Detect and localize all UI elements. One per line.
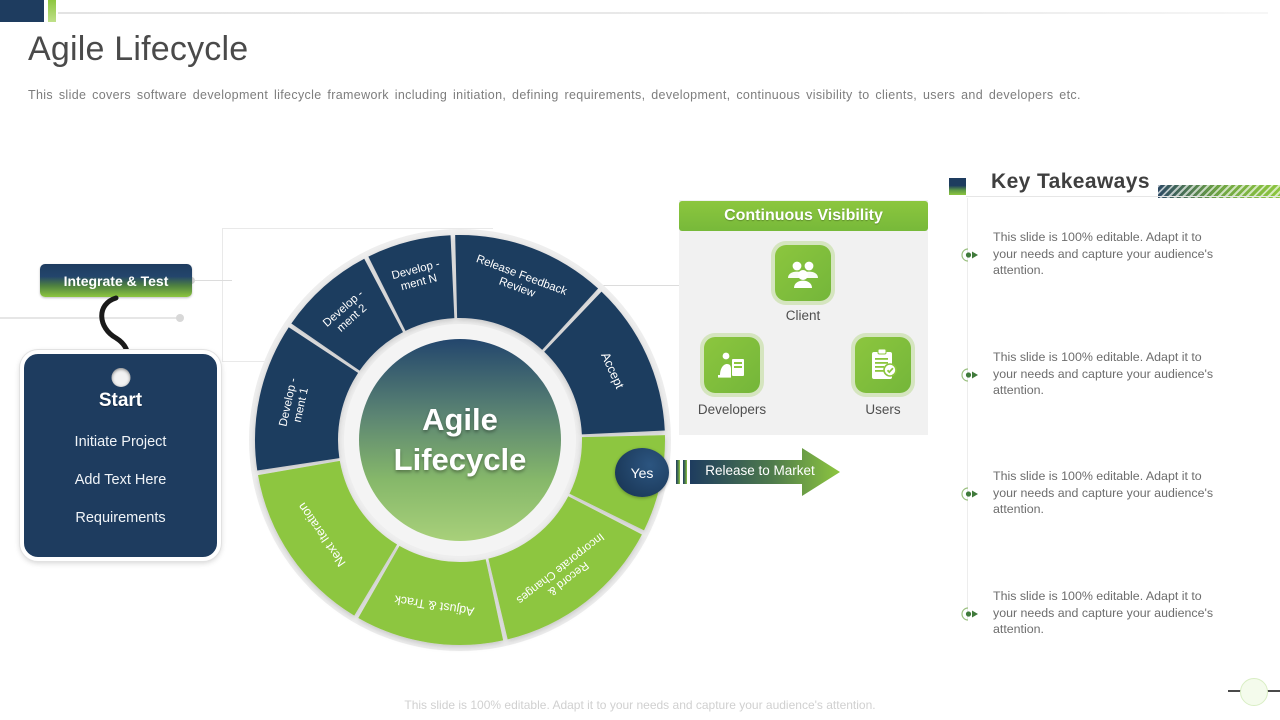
visibility-caption-client: Client xyxy=(756,308,850,323)
integrate-and-test-label: Integrate & Test xyxy=(64,273,169,289)
start-card-line-3: Requirements xyxy=(24,510,217,526)
yes-decision-bubble[interactable]: Yes xyxy=(615,448,669,497)
visibility-caption-users: Users xyxy=(836,402,930,417)
corner-green-accent xyxy=(48,0,56,22)
bottom-right-circle xyxy=(1240,678,1268,706)
yes-label: Yes xyxy=(631,465,654,481)
start-tag-card[interactable]: Start Initiate Project Add Text Here Req… xyxy=(20,350,221,561)
key-takeaways-title: Key Takeaways xyxy=(991,170,1150,194)
key-takeaways-marker xyxy=(949,178,966,195)
start-card-line-1: Initiate Project xyxy=(24,434,217,450)
connector-line-pill xyxy=(192,280,232,281)
start-card-title: Start xyxy=(24,390,217,412)
footer-note: This slide is 100% editable. Adapt it to… xyxy=(0,698,1280,712)
takeaway-bullet-icon xyxy=(961,368,979,382)
visibility-tile-users[interactable] xyxy=(855,337,911,393)
visibility-tile-developers[interactable] xyxy=(704,337,760,393)
takeaway-bullet-icon xyxy=(961,487,979,501)
takeaway-item: This slide is 100% editable. Adapt it to… xyxy=(993,349,1223,399)
takeaway-bullet-icon xyxy=(961,248,979,262)
visibility-tile-client[interactable] xyxy=(775,245,831,301)
key-takeaways-underline xyxy=(966,196,1280,197)
corner-navy-block xyxy=(0,0,44,22)
takeaway-item: This slide is 100% editable. Adapt it to… xyxy=(993,468,1223,518)
start-card-line-2: Add Text Here xyxy=(24,472,217,488)
slide-canvas: Agile Lifecycle This slide covers softwa… xyxy=(0,0,1280,720)
takeaway-item: This slide is 100% editable. Adapt it to… xyxy=(993,229,1223,279)
tag-hole xyxy=(111,368,130,387)
continuous-visibility-title: Continuous Visibility xyxy=(724,207,883,225)
agile-lifecycle-donut-chart: Release FeedbackReviewAcceptNoRecord &In… xyxy=(245,225,675,655)
takeaway-item: This slide is 100% editable. Adapt it to… xyxy=(993,588,1223,638)
integrate-and-test-pill[interactable]: Integrate & Test xyxy=(40,264,192,297)
clipboard-checklist-icon xyxy=(868,349,898,381)
release-to-market-label: Release to Market xyxy=(690,463,830,478)
person-at-desk-icon xyxy=(716,349,748,381)
connector-dot-left xyxy=(176,314,184,322)
visibility-caption-developers: Developers xyxy=(684,402,780,417)
top-divider-rule xyxy=(58,12,1268,14)
continuous-visibility-header: Continuous Visibility xyxy=(679,201,928,231)
page-subtitle: This slide covers software development l… xyxy=(28,88,1088,102)
takeaway-bullet-icon xyxy=(961,607,979,621)
people-group-icon xyxy=(786,258,820,288)
page-title: Agile Lifecycle xyxy=(28,30,248,69)
